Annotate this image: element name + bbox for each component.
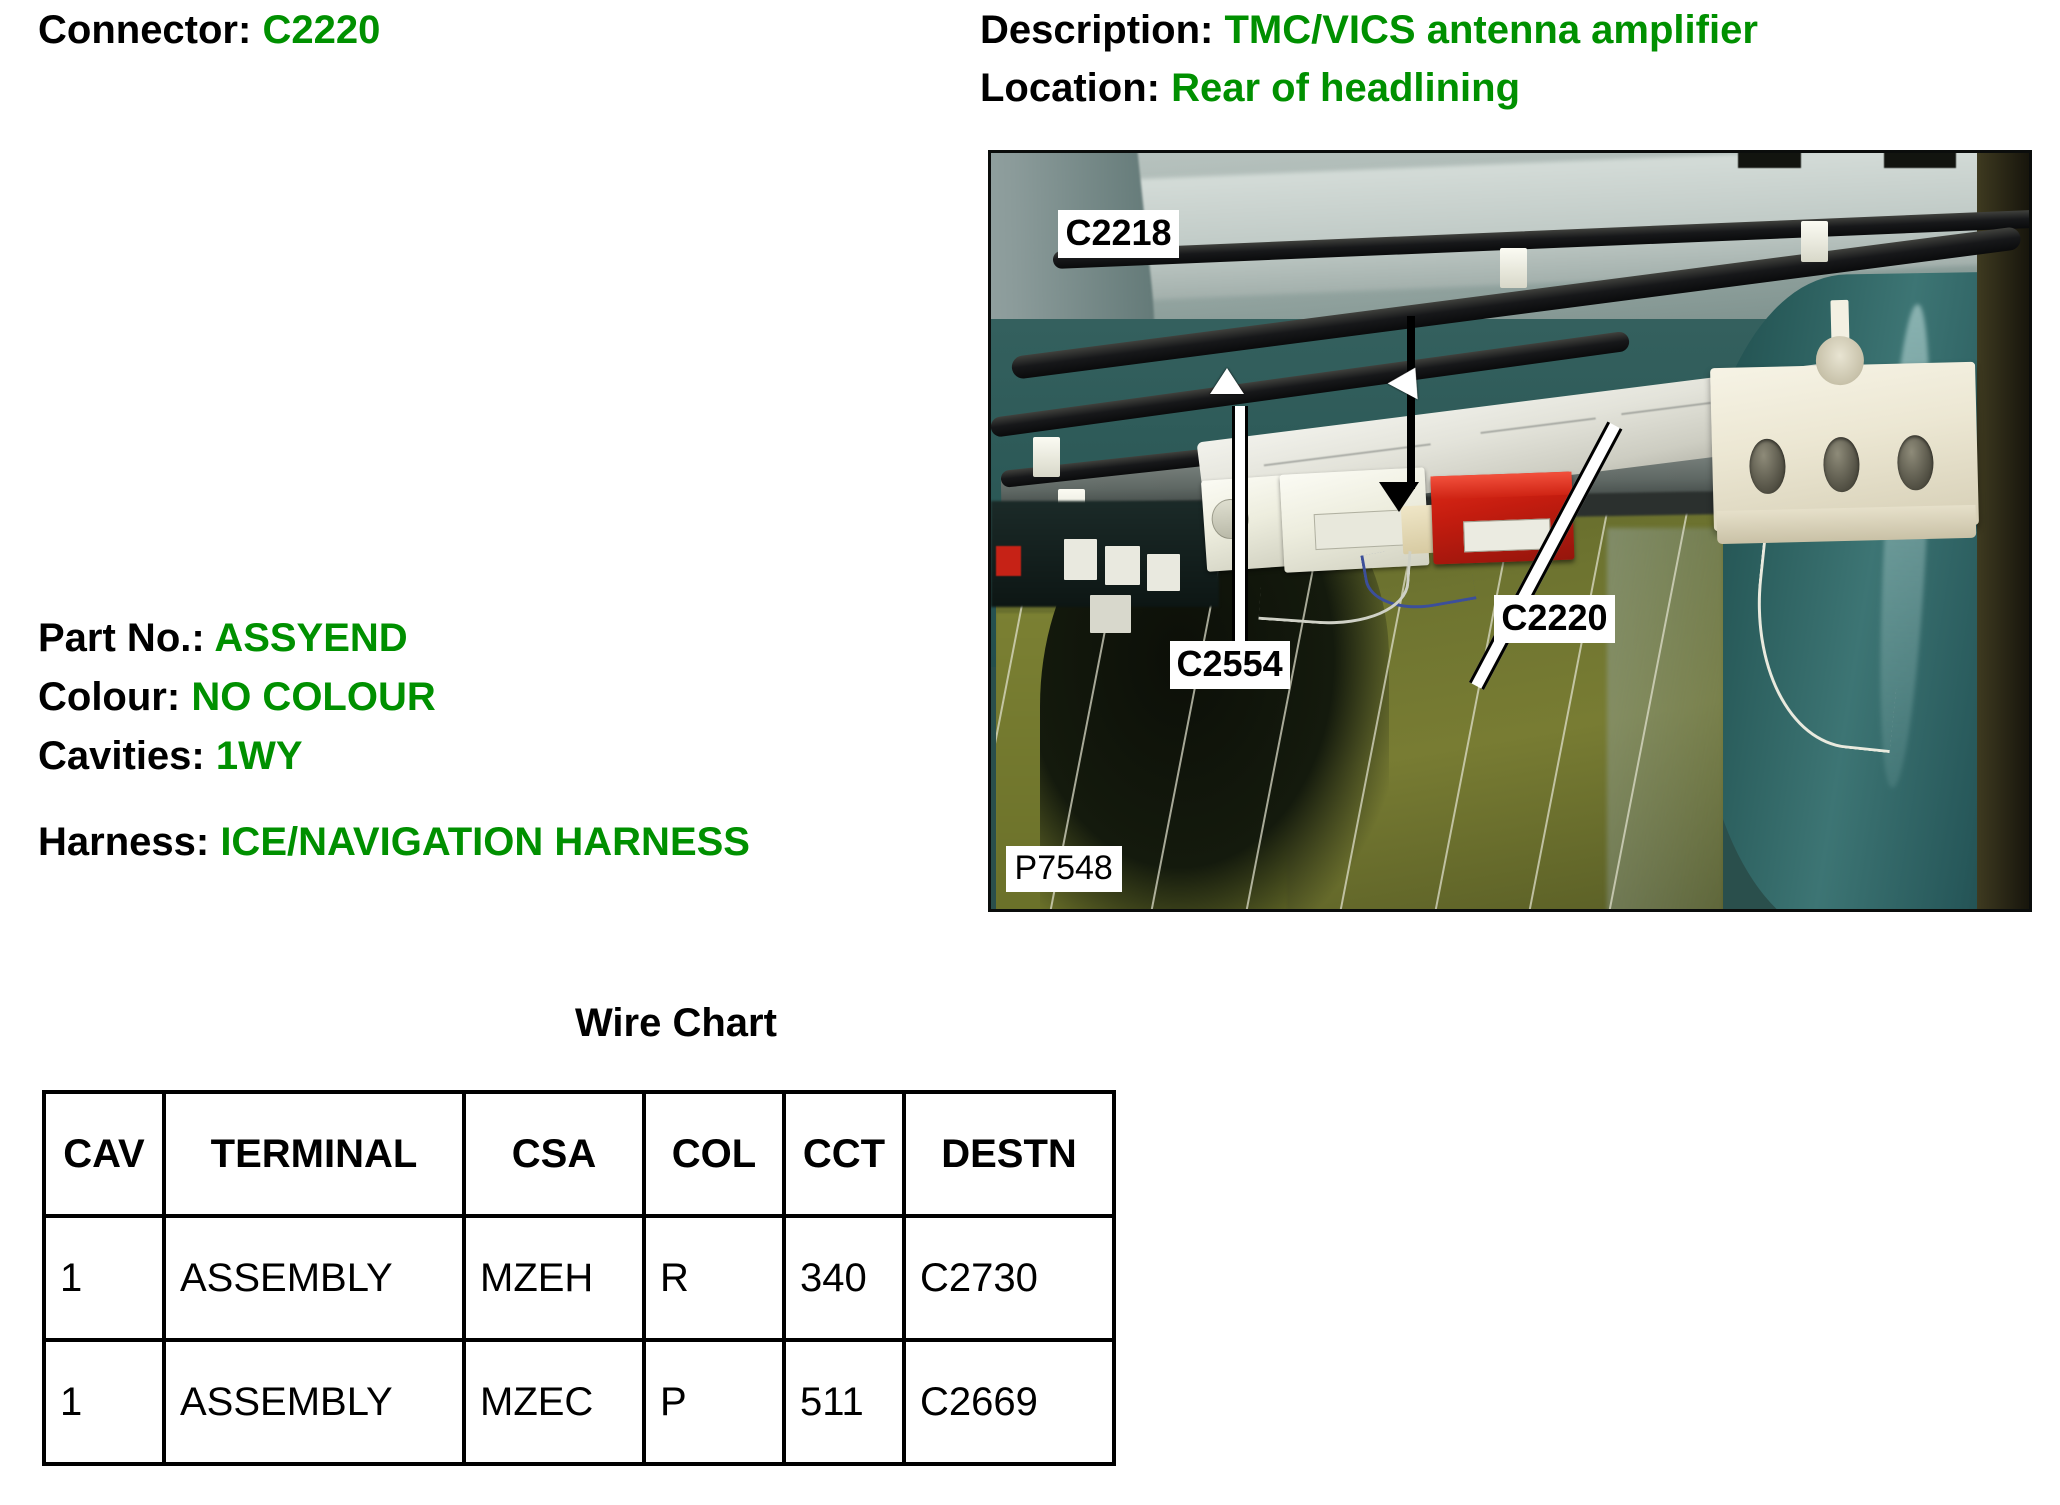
column-header-cav: CAV xyxy=(44,1092,164,1216)
small-connector xyxy=(1064,539,1097,581)
description-label: Description: xyxy=(980,8,1224,52)
cavities-label: Cavities: xyxy=(38,734,216,778)
cell-cct: 511 xyxy=(784,1340,904,1464)
description-value: TMC/VICS antenna amplifier xyxy=(1224,8,1757,52)
colour-field: Colour: NO COLOUR xyxy=(38,677,436,717)
column-header-col: COL xyxy=(644,1092,784,1216)
cell-destn: C2669 xyxy=(904,1340,1114,1464)
harness-field: Harness: ICE/NAVIGATION HARNESS xyxy=(38,822,750,862)
table-row: 1 ASSEMBLY MZEH R 340 C2730 xyxy=(44,1216,1114,1340)
column-header-destn: DESTN xyxy=(904,1092,1114,1216)
loom-tape xyxy=(1738,150,1800,168)
callout-arrowhead-c2554 xyxy=(1210,368,1244,394)
part-number-value: ASSYEND xyxy=(214,616,407,660)
bracket-stud xyxy=(1816,335,1865,385)
column-header-cct: CCT xyxy=(784,1092,904,1216)
connector-location-photo: C2218 C2554 C2220 P7548 xyxy=(988,150,2032,912)
location-value: Rear of headlining xyxy=(1171,66,1520,110)
connector-field: Connector: C2220 xyxy=(38,10,380,50)
description-field: Description: TMC/VICS antenna amplifier xyxy=(980,10,1758,50)
right-dark-edge xyxy=(1977,153,2029,909)
part-number-label: Part No.: xyxy=(38,616,214,660)
cell-destn: C2730 xyxy=(904,1216,1114,1340)
cell-csa: MZEC xyxy=(464,1340,644,1464)
location-label: Location: xyxy=(980,66,1171,110)
location-field: Location: Rear of headlining xyxy=(980,68,1520,108)
table-header-row: CAV TERMINAL CSA COL CCT DESTN xyxy=(44,1092,1114,1216)
cable-clip xyxy=(1801,221,1828,262)
bracket-hole xyxy=(1897,434,1934,490)
callout-leader-c2218 xyxy=(1407,316,1415,490)
bracket-hole xyxy=(1749,438,1786,494)
connector-value: C2220 xyxy=(262,8,380,52)
cell-terminal: ASSEMBLY xyxy=(164,1340,464,1464)
photo-scene: C2218 C2554 C2220 P7548 xyxy=(991,153,2029,909)
small-connector xyxy=(1090,595,1132,633)
cell-col: P xyxy=(644,1340,784,1464)
loom-marking xyxy=(1264,444,1430,467)
cavities-field: Cavities: 1WY xyxy=(38,736,303,776)
colour-value: NO COLOUR xyxy=(191,675,435,719)
cable-clip xyxy=(1033,437,1060,478)
small-connector xyxy=(1147,554,1180,592)
cell-csa: MZEH xyxy=(464,1216,644,1340)
cable-clip xyxy=(1500,248,1527,289)
callout-leader-c2554 xyxy=(1232,406,1248,640)
connector-label: Connector: xyxy=(38,8,262,52)
red-module-label xyxy=(1463,517,1551,552)
cell-cav: 1 xyxy=(44,1340,164,1464)
colour-label: Colour: xyxy=(38,675,191,719)
cell-cct: 340 xyxy=(784,1216,904,1340)
cavities-value: 1WY xyxy=(216,734,303,778)
wire-chart-title: Wire Chart xyxy=(575,1001,777,1046)
callout-label-c2220: C2220 xyxy=(1494,595,1614,643)
three-hole-bracket xyxy=(1710,361,1979,530)
callout-label-c2554: C2554 xyxy=(1170,641,1290,689)
column-header-csa: CSA xyxy=(464,1092,644,1216)
table-row: 1 ASSEMBLY MZEC P 511 C2669 xyxy=(44,1340,1114,1464)
photo-id-badge: P7548 xyxy=(1006,846,1122,892)
column-header-terminal: TERMINAL xyxy=(164,1092,464,1216)
glass-blue-reflection xyxy=(1607,528,1723,909)
cell-cav: 1 xyxy=(44,1216,164,1340)
red-connector-tab xyxy=(996,546,1021,576)
red-module-top-face xyxy=(1431,471,1573,499)
loom-marking xyxy=(1621,402,1711,415)
callout-label-c2218: C2218 xyxy=(1058,210,1178,258)
loom-tape xyxy=(1884,150,1957,168)
connector-detail-page: { "header": { "connector_label": "Connec… xyxy=(0,0,2060,1505)
bracket-hole xyxy=(1823,436,1860,492)
part-number-field: Part No.: ASSYEND xyxy=(38,618,408,658)
harness-value: ICE/NAVIGATION HARNESS xyxy=(220,820,750,864)
cell-terminal: ASSEMBLY xyxy=(164,1216,464,1340)
harness-label: Harness: xyxy=(38,820,220,864)
connector-label-plate xyxy=(1313,509,1407,549)
bracket-lip xyxy=(1717,505,1977,544)
wire-chart-table: CAV TERMINAL CSA COL CCT DESTN 1 ASSEMBL… xyxy=(42,1090,1116,1466)
cell-col: R xyxy=(644,1216,784,1340)
small-connector xyxy=(1105,546,1140,585)
loom-marking xyxy=(1480,418,1595,435)
callout-arrowhead-c2218 xyxy=(1379,482,1419,512)
